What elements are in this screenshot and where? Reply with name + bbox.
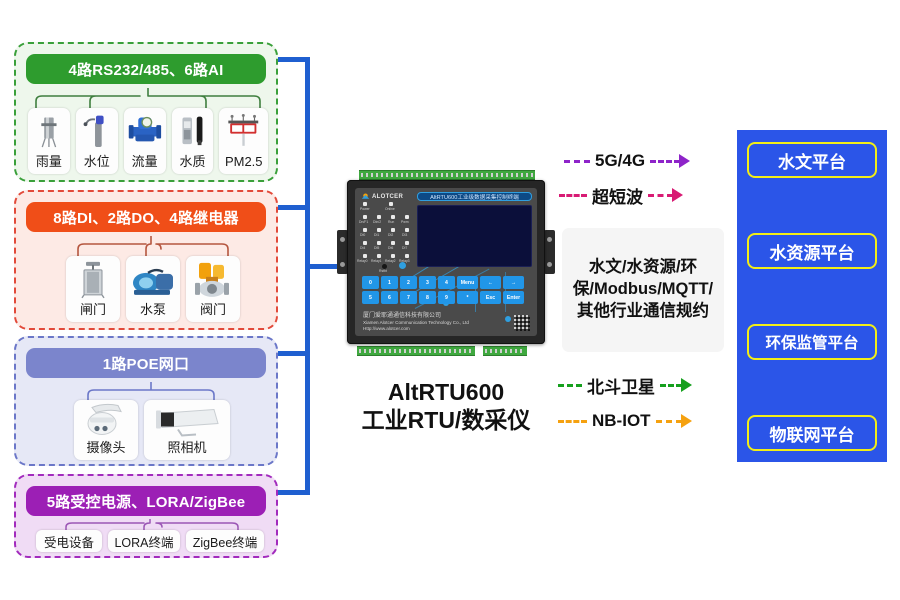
card-label: 摄像头	[84, 440, 127, 457]
bullet-camera-icon	[144, 399, 230, 440]
link-dash-left	[558, 384, 582, 387]
card-list-digital: 闸门 水泵	[66, 256, 242, 322]
key-0[interactable]: 0	[362, 276, 379, 289]
rain-gauge-icon	[28, 108, 70, 154]
card-label: 流量	[130, 154, 160, 171]
led-relay	[363, 254, 367, 258]
led-di	[363, 241, 367, 245]
card-sluice-gate[interactable]: 闸门	[66, 256, 120, 322]
led-power	[363, 202, 367, 206]
panel-lora-zigbee: 5路受控电源、LORA/ZigBee 受电设备 LORA终端 ZigBee终端	[14, 474, 278, 558]
link-label: 超短波	[587, 183, 648, 208]
led-label: Relay1	[371, 259, 382, 263]
link-dash-left	[559, 194, 587, 197]
panel-title-poe: 1路POE网口	[26, 348, 266, 378]
link-label: NB-IOT	[587, 411, 656, 431]
led-label: DI7	[402, 246, 407, 250]
led-label: DI0	[360, 233, 365, 237]
card-water-level[interactable]: 水位	[76, 108, 118, 174]
bracket-analog	[28, 88, 268, 110]
card-label: 水质	[178, 154, 208, 171]
platform-stack: 水文平台 水资源平台 环保监管平台 物联网平台	[737, 130, 887, 462]
led-di	[405, 228, 409, 232]
bracket-digital	[68, 236, 238, 258]
panel-analog-inputs: 4路RS232/485、6路AI 雨量	[14, 42, 278, 182]
key-esc[interactable]: Esc	[480, 291, 501, 304]
card-label: PM2.5	[223, 154, 265, 171]
sluice-gate-icon	[66, 256, 120, 302]
chip-zigbee-terminal[interactable]: ZigBee终端	[186, 530, 264, 552]
water-pump-icon	[126, 256, 180, 302]
link-arrowhead	[681, 378, 692, 392]
terminal-strip-bottom-left	[357, 346, 475, 356]
link-dash-left	[564, 160, 590, 163]
card-label: 雨量	[34, 154, 64, 171]
pcb-via	[399, 262, 406, 269]
device-faceplate: ALOTCER AltRTU600工业级数据采集控制终端 Power Onlin…	[355, 188, 537, 336]
mount-ear-right	[544, 230, 555, 274]
rtu-device[interactable]: ALOTCER AltRTU600工业级数据采集控制终端 Power Onlin…	[337, 168, 555, 358]
reset-label: Rstbt	[379, 269, 387, 273]
alotcer-mark-icon	[361, 192, 370, 201]
key-1[interactable]: 1	[381, 276, 398, 289]
led-di	[377, 241, 381, 245]
diagram-canvas: 4路RS232/485、6路AI 雨量	[0, 0, 900, 600]
card-label: 水泵	[138, 302, 168, 319]
key-star[interactable]: *	[457, 291, 478, 304]
led-indicator	[391, 215, 395, 219]
card-dome-camera[interactable]: 摄像头	[74, 400, 138, 460]
led-label: Relay2	[385, 259, 396, 263]
card-pm25[interactable]: PM2.5	[219, 108, 268, 174]
water-quality-probe-icon	[172, 108, 214, 154]
bus-vertical	[305, 57, 310, 495]
led-label: Online	[385, 207, 395, 211]
company-website: Http://www.alotcer.com	[363, 326, 469, 332]
device-footer: 厦门爱耶通通信科技有限公司 Xiamen Alotcer Communicati…	[363, 312, 469, 332]
key-7[interactable]: 7	[400, 291, 417, 304]
card-label: 水位	[82, 154, 112, 171]
link-arrowhead	[672, 188, 683, 202]
led-online	[389, 202, 393, 206]
key-8[interactable]: 8	[419, 291, 436, 304]
card-bullet-camera[interactable]: 照相机	[144, 400, 230, 460]
link-dash-left	[558, 420, 587, 423]
led-label: Power	[360, 207, 370, 211]
card-water-quality[interactable]: 水质	[172, 108, 214, 174]
key-right-arrow[interactable]: →	[503, 276, 524, 289]
company-name-cn: 厦门爱耶通通信科技有限公司	[363, 312, 469, 320]
pm25-monitor-icon	[219, 108, 268, 154]
valve-actuator-icon	[186, 256, 240, 302]
led-label: Dn/F1	[359, 220, 368, 224]
led-label: Relay3	[399, 259, 410, 263]
led-label: DI4	[360, 246, 365, 250]
led-di	[405, 241, 409, 245]
company-name-en: Xiamen Alotcer Communication Technology …	[363, 320, 469, 326]
panel-title-digital-io: 8路DI、2路DO、4路继电器	[26, 202, 266, 232]
led-indicator	[405, 215, 409, 219]
card-valve[interactable]: 阀门	[186, 256, 240, 322]
terminal-strip-top	[359, 170, 535, 180]
card-label: 闸门	[78, 302, 108, 319]
led-indicator	[377, 215, 381, 219]
panel-title-analog-inputs: 4路RS232/485、6路AI	[26, 54, 266, 84]
qr-code-icon	[514, 315, 530, 331]
led-label: Relay0	[357, 259, 368, 263]
panel-digital-io: 8路DI、2路DO、4路继电器 闸门	[14, 190, 278, 330]
led-label: DI5	[374, 246, 379, 250]
link-dash-right	[660, 384, 682, 387]
led-label: DI2	[388, 233, 393, 237]
link-label: 北斗卫星	[582, 373, 660, 398]
key-enter[interactable]: Enter	[503, 291, 524, 304]
link-beidou: 北斗卫星	[558, 374, 730, 396]
water-level-sensor-icon	[76, 108, 118, 154]
terminal-strip-bottom-right	[483, 346, 527, 356]
device-body: ALOTCER AltRTU600工业级数据采集控制终端 Power Onlin…	[347, 180, 545, 344]
platform-iot[interactable]: 物联网平台	[747, 415, 877, 451]
card-list-poe: 摄像头 照相机	[74, 400, 230, 460]
card-water-pump[interactable]: 水泵	[126, 256, 180, 322]
link-label: 5G/4G	[590, 151, 650, 171]
link-dash-right	[656, 420, 682, 423]
platform-hydrology[interactable]: 水文平台	[747, 142, 877, 178]
led-di	[363, 228, 367, 232]
brand-logo: ALOTCER	[361, 192, 403, 201]
led-di	[391, 228, 395, 232]
card-rain-gauge[interactable]: 雨量	[28, 108, 70, 174]
pcb-via	[505, 316, 511, 322]
link-nbiot: NB-IOT	[558, 410, 730, 432]
led-di	[377, 228, 381, 232]
dome-camera-icon	[74, 399, 138, 440]
device-lcd-screen[interactable]	[417, 205, 532, 267]
protocol-text: 水文/水资源/环保/Modbus/MQTT/其他行业通信规约	[568, 257, 718, 323]
device-type-name: 工业RTU/数采仪	[330, 406, 562, 434]
led-relay	[405, 254, 409, 258]
link-5g4g: 5G/4G	[564, 150, 730, 172]
link-uhf: 超短波	[559, 184, 730, 206]
chip-lora-terminal[interactable]: LORA终端	[108, 530, 180, 552]
key-menu[interactable]: Menu	[457, 276, 478, 289]
led-label: Run	[388, 220, 394, 224]
key-2[interactable]: 2	[400, 276, 417, 289]
brand-name: ALOTCER	[372, 194, 403, 200]
card-list-analog: 雨量 水位	[28, 108, 268, 174]
led-label: Pwm	[401, 220, 409, 224]
panel-title-lora-zigbee: 5路受控电源、LORA/ZigBee	[26, 486, 266, 516]
card-label: 阀门	[198, 302, 228, 319]
link-arrowhead	[681, 414, 692, 428]
led-label: DIn/2	[373, 220, 381, 224]
led-relay	[377, 254, 381, 258]
key-6[interactable]: 6	[381, 291, 398, 304]
led-label: DI6	[388, 246, 393, 250]
card-flow-meter[interactable]: 流量	[124, 108, 166, 174]
device-caption: AltRTU600 工业RTU/数采仪	[330, 378, 562, 434]
key-left-arrow[interactable]: ←	[480, 276, 501, 289]
panel-poe: 1路POE网口 摄像头	[14, 336, 278, 466]
link-arrowhead	[679, 154, 690, 168]
key-3[interactable]: 3	[419, 276, 436, 289]
card-list-lora: 受电设备 LORA终端 ZigBee终端	[36, 530, 264, 552]
device-model-banner: AltRTU600工业级数据采集控制终端	[417, 192, 532, 201]
led-label: DI3	[402, 233, 407, 237]
led-label: DI1	[374, 233, 379, 237]
key-4[interactable]: 4	[438, 276, 455, 289]
link-dash-right	[650, 160, 680, 163]
platform-environment[interactable]: 环保监管平台	[747, 324, 877, 360]
platform-water-resources[interactable]: 水资源平台	[747, 233, 877, 269]
led-di	[391, 241, 395, 245]
device-model-name: AltRTU600	[330, 378, 562, 406]
link-dash-right	[648, 194, 673, 197]
key-5[interactable]: 5	[362, 291, 379, 304]
chip-powered-device[interactable]: 受电设备	[36, 530, 102, 552]
card-label: 照相机	[165, 440, 208, 457]
key-9[interactable]: 9	[438, 291, 455, 304]
led-relay	[391, 254, 395, 258]
led-indicator	[363, 215, 367, 219]
flow-meter-icon	[124, 108, 166, 154]
protocol-list-box: 水文/水资源/环保/Modbus/MQTT/其他行业通信规约	[562, 228, 724, 352]
